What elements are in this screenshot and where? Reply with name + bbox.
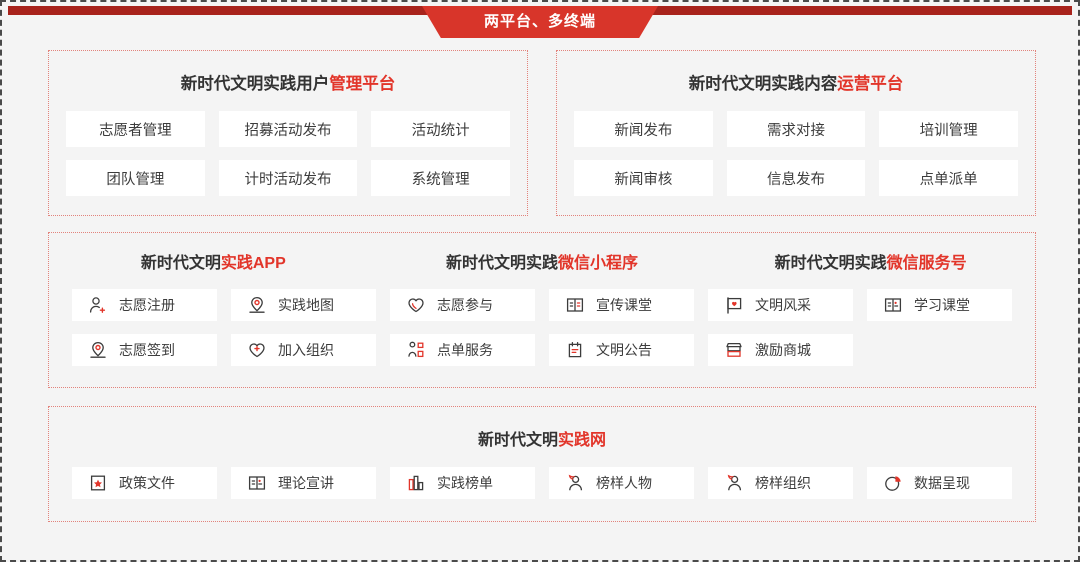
tile-label: 文明公告 bbox=[596, 343, 652, 357]
heading-app: 新时代文明实践APP bbox=[49, 249, 378, 273]
title-accent: 微信服务号 bbox=[887, 255, 967, 272]
tile-label: 理论宣讲 bbox=[278, 476, 334, 490]
heading-miniprogram: 新时代文明实践微信小程序 bbox=[378, 249, 707, 273]
title-plain: 新时代文明实践 bbox=[775, 255, 887, 272]
tile-label: 志愿注册 bbox=[119, 298, 175, 312]
tile-news-publish[interactable]: 新闻发布 bbox=[574, 111, 713, 147]
person-icon bbox=[724, 473, 744, 493]
tile-system-management[interactable]: 系统管理 bbox=[371, 160, 510, 196]
tile-label: 加入组织 bbox=[278, 343, 334, 357]
tile-label: 榜样人物 bbox=[596, 476, 652, 490]
tile-recruit-activity-publish[interactable]: 招募活动发布 bbox=[219, 111, 358, 147]
tile-volunteer-checkin[interactable]: 志愿签到 bbox=[72, 334, 217, 366]
tile-civilization-announcement[interactable]: 文明公告 bbox=[549, 334, 694, 366]
title-accent: 管理平台 bbox=[329, 75, 395, 93]
user-platform-tile-grid: 志愿者管理 招募活动发布 活动统计 团队管理 计时活动发布 系统管理 bbox=[66, 111, 510, 196]
map-pin-icon bbox=[88, 340, 108, 360]
tile-theory-lecture[interactable]: 理论宣讲 bbox=[231, 467, 376, 499]
terminals-tile-grid: 志愿注册 实践地图 bbox=[72, 289, 1012, 366]
tile-role-model-person[interactable]: 榜样人物 bbox=[549, 467, 694, 499]
banner-label: 两平台、多终端 bbox=[484, 14, 596, 30]
tile-information-publish[interactable]: 信息发布 bbox=[727, 160, 866, 196]
tile-incentive-mall[interactable]: 激励商城 bbox=[708, 334, 853, 366]
tile-label: 志愿签到 bbox=[119, 343, 175, 357]
user-add-icon bbox=[88, 295, 108, 315]
tile-activity-statistics[interactable]: 活动统计 bbox=[371, 111, 510, 147]
person-icon bbox=[565, 473, 585, 493]
tile-civilization-style[interactable]: 文明风采 bbox=[708, 289, 853, 321]
panel-content-platform: 新时代文明实践内容运营平台 新闻发布 需求对接 培训管理 新闻审核 信息发布 点… bbox=[556, 50, 1036, 216]
flag-heart-icon bbox=[724, 295, 744, 315]
tile-order-dispatch[interactable]: 点单派单 bbox=[879, 160, 1018, 196]
panel-user-platform-title: 新时代文明实践用户管理平台 bbox=[49, 70, 527, 94]
tile-label: 实践榜单 bbox=[437, 476, 493, 490]
title-accent: 微信小程序 bbox=[558, 255, 638, 272]
map-pin-icon bbox=[247, 295, 267, 315]
title-accent: 运营平台 bbox=[837, 75, 903, 93]
tile-order-service[interactable]: 点单服务 bbox=[390, 334, 535, 366]
bar-chart-icon bbox=[406, 473, 426, 493]
heading-service-account: 新时代文明实践微信服务号 bbox=[706, 249, 1035, 273]
tile-timed-activity-publish[interactable]: 计时活动发布 bbox=[219, 160, 358, 196]
title-plain: 新时代文明实践用户 bbox=[181, 75, 330, 93]
tile-study-classroom[interactable]: 学习课堂 bbox=[867, 289, 1012, 321]
tile-volunteer-participate[interactable]: 志愿参与 bbox=[390, 289, 535, 321]
panel-content-platform-title: 新时代文明实践内容运营平台 bbox=[557, 70, 1035, 94]
tile-training-management[interactable]: 培训管理 bbox=[879, 111, 1018, 147]
tile-join-organization[interactable]: 加入组织 bbox=[231, 334, 376, 366]
panel-user-platform: 新时代文明实践用户管理平台 志愿者管理 招募活动发布 活动统计 团队管理 计时活… bbox=[48, 50, 528, 216]
panel-web: 新时代文明实践网 政策文件 bbox=[48, 406, 1036, 522]
title-accent: 实践网 bbox=[558, 432, 606, 449]
tile-volunteer-management[interactable]: 志愿者管理 bbox=[66, 111, 205, 147]
announcement-icon bbox=[565, 340, 585, 360]
tile-demand-matching[interactable]: 需求对接 bbox=[727, 111, 866, 147]
pie-chart-icon bbox=[883, 473, 903, 493]
org-chart-icon bbox=[406, 340, 426, 360]
infographic-root: 两平台、多终端 新时代文明实践用户管理平台 志愿者管理 招募活动发布 活动统计 … bbox=[0, 0, 1080, 562]
tile-practice-ranking[interactable]: 实践榜单 bbox=[390, 467, 535, 499]
open-book-icon bbox=[247, 473, 267, 493]
panel-web-title: 新时代文明实践网 bbox=[49, 426, 1035, 450]
tile-label: 榜样组织 bbox=[755, 476, 811, 490]
terminals-heading-row: 新时代文明实践APP 新时代文明实践微信小程序 新时代文明实践微信服务号 bbox=[49, 249, 1035, 273]
open-book-icon bbox=[565, 295, 585, 315]
open-book-icon bbox=[883, 295, 903, 315]
tile-label: 学习课堂 bbox=[914, 298, 970, 312]
tile-label: 点单服务 bbox=[437, 343, 493, 357]
document-star-icon bbox=[88, 473, 108, 493]
shop-icon bbox=[724, 340, 744, 360]
content-platform-tile-grid: 新闻发布 需求对接 培训管理 新闻审核 信息发布 点单派单 bbox=[574, 111, 1018, 196]
web-tile-grid: 政策文件 理论宣讲 bbox=[72, 467, 1012, 499]
title-plain: 新时代文明实践 bbox=[446, 255, 558, 272]
tile-publicity-classroom[interactable]: 宣传课堂 bbox=[549, 289, 694, 321]
tile-label: 宣传课堂 bbox=[596, 298, 652, 312]
tile-label: 志愿参与 bbox=[437, 298, 493, 312]
tile-label: 政策文件 bbox=[119, 476, 175, 490]
tile-data-presentation[interactable]: 数据呈现 bbox=[867, 467, 1012, 499]
tile-practice-map[interactable]: 实践地图 bbox=[231, 289, 376, 321]
tile-volunteer-register[interactable]: 志愿注册 bbox=[72, 289, 217, 321]
tile-team-management[interactable]: 团队管理 bbox=[66, 160, 205, 196]
title-plain: 新时代文明实践内容 bbox=[689, 75, 838, 93]
tile-label: 激励商城 bbox=[755, 343, 811, 357]
banner: 两平台、多终端 bbox=[422, 6, 658, 38]
tile-label: 文明风采 bbox=[755, 298, 811, 312]
tile-role-model-organization[interactable]: 榜样组织 bbox=[708, 467, 853, 499]
heart-plus-icon bbox=[247, 340, 267, 360]
tile-policy-documents[interactable]: 政策文件 bbox=[72, 467, 217, 499]
title-accent: 实践APP bbox=[221, 255, 286, 272]
tile-news-review[interactable]: 新闻审核 bbox=[574, 160, 713, 196]
panel-terminals: 新时代文明实践APP 新时代文明实践微信小程序 新时代文明实践微信服务号 bbox=[48, 232, 1036, 388]
tile-label: 数据呈现 bbox=[914, 476, 970, 490]
title-plain: 新时代文明 bbox=[478, 432, 558, 449]
heart-icon bbox=[406, 295, 426, 315]
tile-label: 实践地图 bbox=[278, 298, 334, 312]
title-plain: 新时代文明 bbox=[141, 255, 221, 272]
